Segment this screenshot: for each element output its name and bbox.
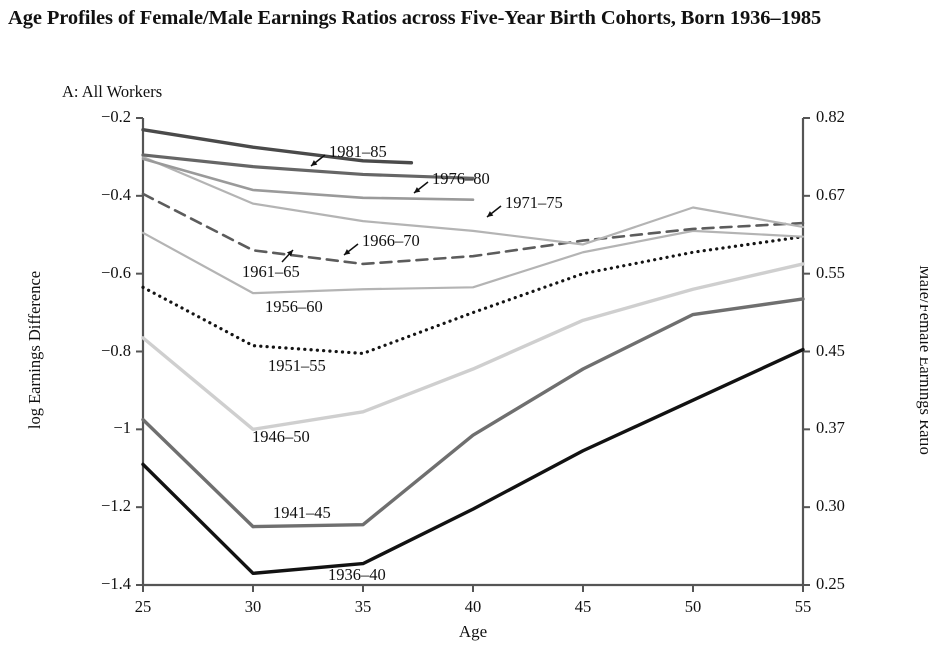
series-annotation-label: 1941–45 (273, 503, 331, 523)
series-annotation-label: 1981–85 (329, 142, 387, 162)
y-tick-label-left: −0.8 (23, 341, 131, 361)
y-tick-label-right: 0.30 (816, 496, 886, 516)
x-tick-label: 25 (113, 597, 173, 617)
series-line (143, 155, 473, 178)
series-annotation-label: 1961–65 (242, 262, 300, 282)
y-tick-label-right: 0.45 (816, 341, 886, 361)
y-tick-label-left: −0.2 (23, 107, 131, 127)
series-annotation-label: 1946–50 (252, 427, 310, 447)
series-line (143, 237, 803, 354)
x-tick-label: 55 (773, 597, 833, 617)
series-annotation-label: 1971–75 (505, 193, 563, 213)
series-annotation-label: 1956–60 (265, 297, 323, 317)
y-tick-label-right: 0.37 (816, 418, 886, 438)
y-tick-label-right: 0.82 (816, 107, 886, 127)
x-tick-label: 50 (663, 597, 723, 617)
y-tick-label-left: −0.4 (23, 185, 131, 205)
y-tick-label-right: 0.25 (816, 574, 886, 594)
y-tick-label-right: 0.67 (816, 185, 886, 205)
series-line (143, 194, 803, 264)
y-tick-label-left: −1.2 (23, 496, 131, 516)
x-tick-label: 30 (223, 597, 283, 617)
figure-panel: Age Profiles of Female/Male Earnings Rat… (0, 0, 928, 657)
series-annotation-label: 1976–80 (432, 169, 490, 189)
series-line (143, 264, 803, 429)
series-annotation-label: 1966–70 (362, 231, 420, 251)
series-annotation-label: 1936–40 (328, 565, 386, 585)
y-tick-label-left: −1.4 (23, 574, 131, 594)
series-line (143, 350, 803, 574)
x-tick-label: 35 (333, 597, 393, 617)
y-tick-label-left: −0.6 (23, 263, 131, 283)
x-tick-label: 40 (443, 597, 503, 617)
line-chart-plot (0, 0, 928, 657)
series-line (143, 299, 803, 527)
x-tick-label: 45 (553, 597, 613, 617)
series-line (143, 159, 473, 200)
series-annotation-label: 1951–55 (268, 356, 326, 376)
y-tick-label-left: −1 (23, 418, 131, 438)
y-tick-label-right: 0.55 (816, 263, 886, 283)
